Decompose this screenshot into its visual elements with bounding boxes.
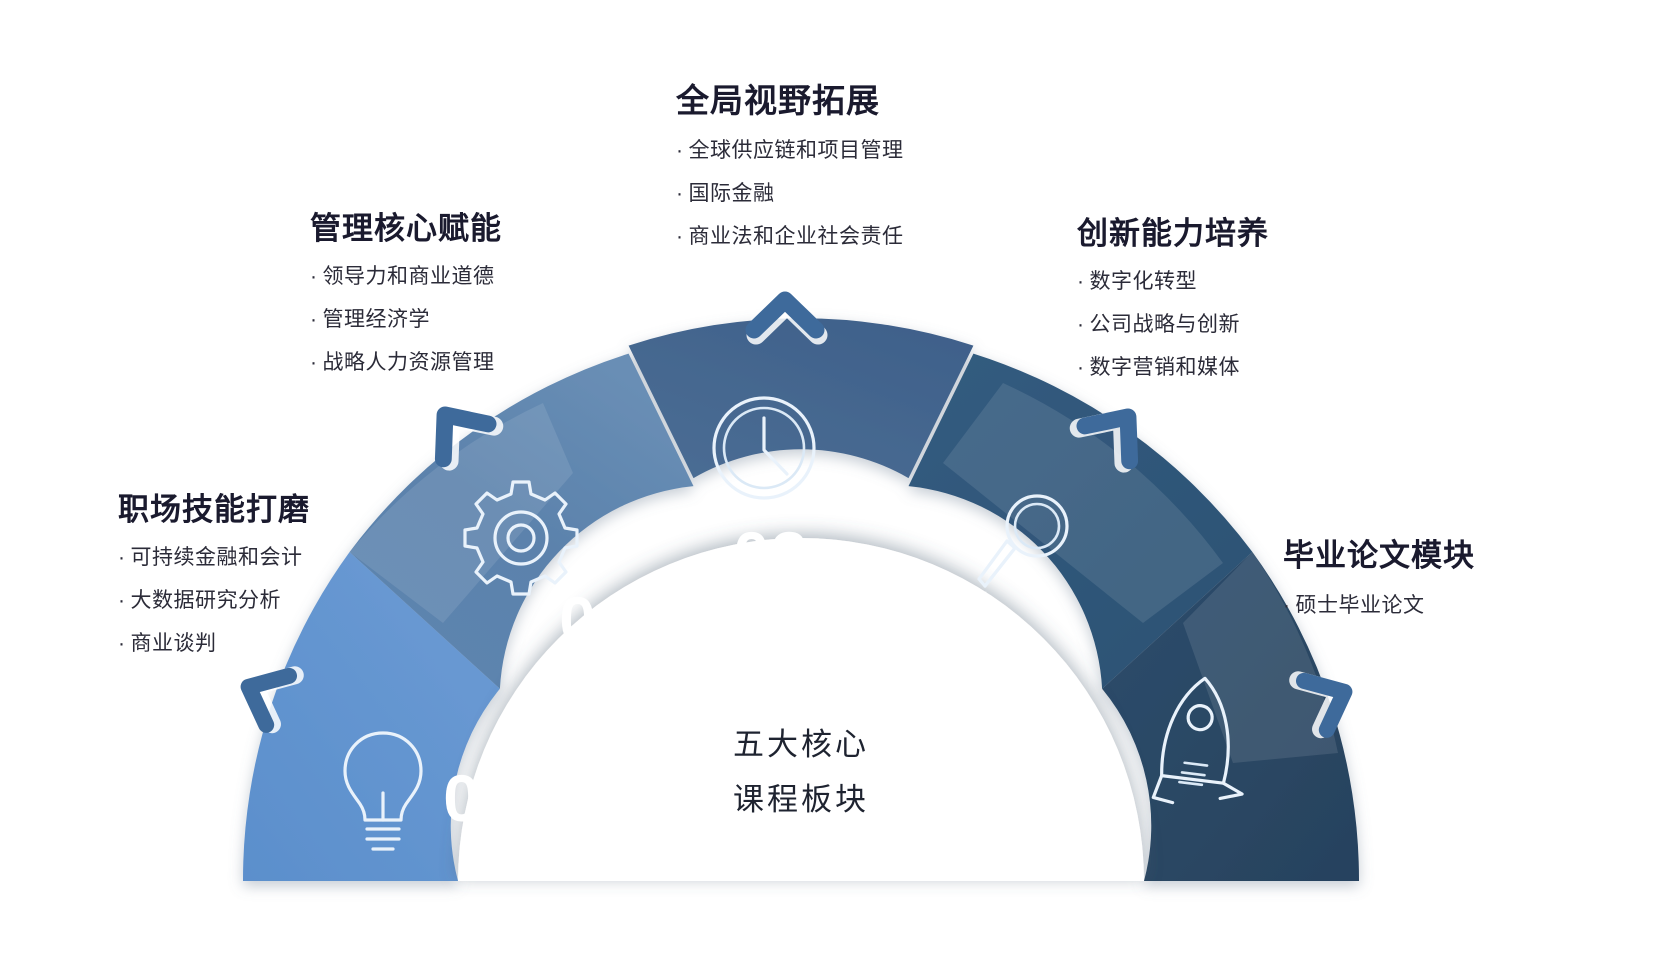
- bullet-text: 硕士毕业论文: [1296, 594, 1425, 617]
- bullet-item: ·国际金融: [676, 183, 904, 204]
- bullet-item: ·商业谈判: [118, 633, 310, 654]
- block-bullets-02: ·领导力和商业道德 ·管理经济学 ·战略人力资源管理: [310, 266, 502, 373]
- chevron-marker-03: [740, 282, 830, 348]
- bullet-marker: ·: [310, 265, 318, 288]
- infographic-canvas: 五大核心 课程板块 01 02 03 04 05: [0, 0, 1678, 978]
- text-block-03: 全局视野拓展 ·全球供应链和项目管理 ·国际金融 ·商业法和企业社会责任: [676, 74, 904, 269]
- semicircle-donut-chart: 五大核心 课程板块 01 02 03 04 05: [243, 323, 1359, 881]
- bullet-text: 全球供应链和项目管理: [689, 139, 904, 162]
- segment-number-05: 05: [1047, 751, 1122, 825]
- segment-number-04: 04: [918, 577, 993, 651]
- block-bullets-04: ·数字化转型 ·公司战略与创新 ·数字营销和媒体: [1077, 271, 1269, 378]
- block-bullets-03: ·全球供应链和项目管理 ·国际金融 ·商业法和企业社会责任: [676, 140, 904, 247]
- chevron-marker-04: [1076, 390, 1158, 472]
- segment-number-03: 03: [733, 518, 808, 592]
- bullet-marker: ·: [118, 632, 126, 655]
- text-block-01: 职场技能打磨 ·可持续金融和会计 ·大数据研究分析 ·商业谈判: [118, 484, 310, 676]
- bullet-text: 领导力和商业道德: [323, 265, 495, 288]
- bullet-item: ·数字营销和媒体: [1077, 357, 1269, 378]
- bullet-item: ·商业法和企业社会责任: [676, 226, 904, 247]
- bullet-text: 数字化转型: [1090, 270, 1198, 293]
- bullet-marker: ·: [1283, 594, 1291, 617]
- text-block-05: 毕业论文模块 ·硕士毕业论文: [1283, 530, 1475, 638]
- bullet-marker: ·: [1077, 356, 1085, 379]
- segment-number-01: 01: [443, 761, 518, 835]
- bullet-marker: ·: [310, 351, 318, 374]
- block-title-01: 职场技能打磨: [118, 484, 310, 529]
- bullet-text: 大数据研究分析: [131, 589, 282, 612]
- bullet-item: ·大数据研究分析: [118, 590, 310, 611]
- bullet-item: ·硕士毕业论文: [1283, 595, 1475, 616]
- bullet-marker: ·: [1077, 313, 1085, 336]
- bullet-marker: ·: [118, 546, 126, 569]
- hub-line-2: 课程板块: [733, 782, 869, 817]
- bullet-marker: ·: [676, 182, 684, 205]
- bullet-marker: ·: [676, 225, 684, 248]
- block-title-04: 创新能力培养: [1077, 208, 1269, 253]
- bullet-item: ·管理经济学: [310, 309, 502, 330]
- bullet-item: ·领导力和商业道德: [310, 266, 502, 287]
- bullet-text: 数字营销和媒体: [1090, 356, 1241, 379]
- bullet-item: ·全球供应链和项目管理: [676, 140, 904, 161]
- bullet-text: 管理经济学: [323, 308, 431, 331]
- bullet-text: 战略人力资源管理: [323, 351, 495, 374]
- bullet-text: 国际金融: [689, 182, 775, 205]
- bullet-text: 商业谈判: [131, 632, 217, 655]
- block-bullets-01: ·可持续金融和会计 ·大数据研究分析 ·商业谈判: [118, 547, 310, 654]
- segment-number-02: 02: [559, 583, 634, 657]
- bullet-marker: ·: [676, 139, 684, 162]
- text-block-04: 创新能力培养 ·数字化转型 ·公司战略与创新 ·数字营销和媒体: [1077, 208, 1269, 400]
- text-block-02: 管理核心赋能 ·领导力和商业道德 ·管理经济学 ·战略人力资源管理: [310, 203, 502, 395]
- block-title-05: 毕业论文模块: [1283, 530, 1475, 575]
- bullet-text: 可持续金融和会计: [131, 546, 303, 569]
- hub-line-1: 五大核心: [733, 727, 869, 762]
- block-title-03: 全局视野拓展: [676, 74, 904, 122]
- bullet-marker: ·: [118, 589, 126, 612]
- chevron-marker-02: [415, 388, 497, 470]
- bullet-marker: ·: [310, 308, 318, 331]
- bullet-text: 商业法和企业社会责任: [689, 225, 904, 248]
- bullet-text: 公司战略与创新: [1090, 313, 1241, 336]
- bullet-item: ·可持续金融和会计: [118, 547, 310, 568]
- block-bullets-05: ·硕士毕业论文: [1283, 595, 1475, 616]
- bullet-marker: ·: [1077, 270, 1085, 293]
- bullet-item: ·战略人力资源管理: [310, 352, 502, 373]
- bullet-item: ·数字化转型: [1077, 271, 1269, 292]
- chevron-marker-05: [1290, 660, 1368, 738]
- block-title-02: 管理核心赋能: [310, 203, 502, 248]
- bullet-item: ·公司战略与创新: [1077, 314, 1269, 335]
